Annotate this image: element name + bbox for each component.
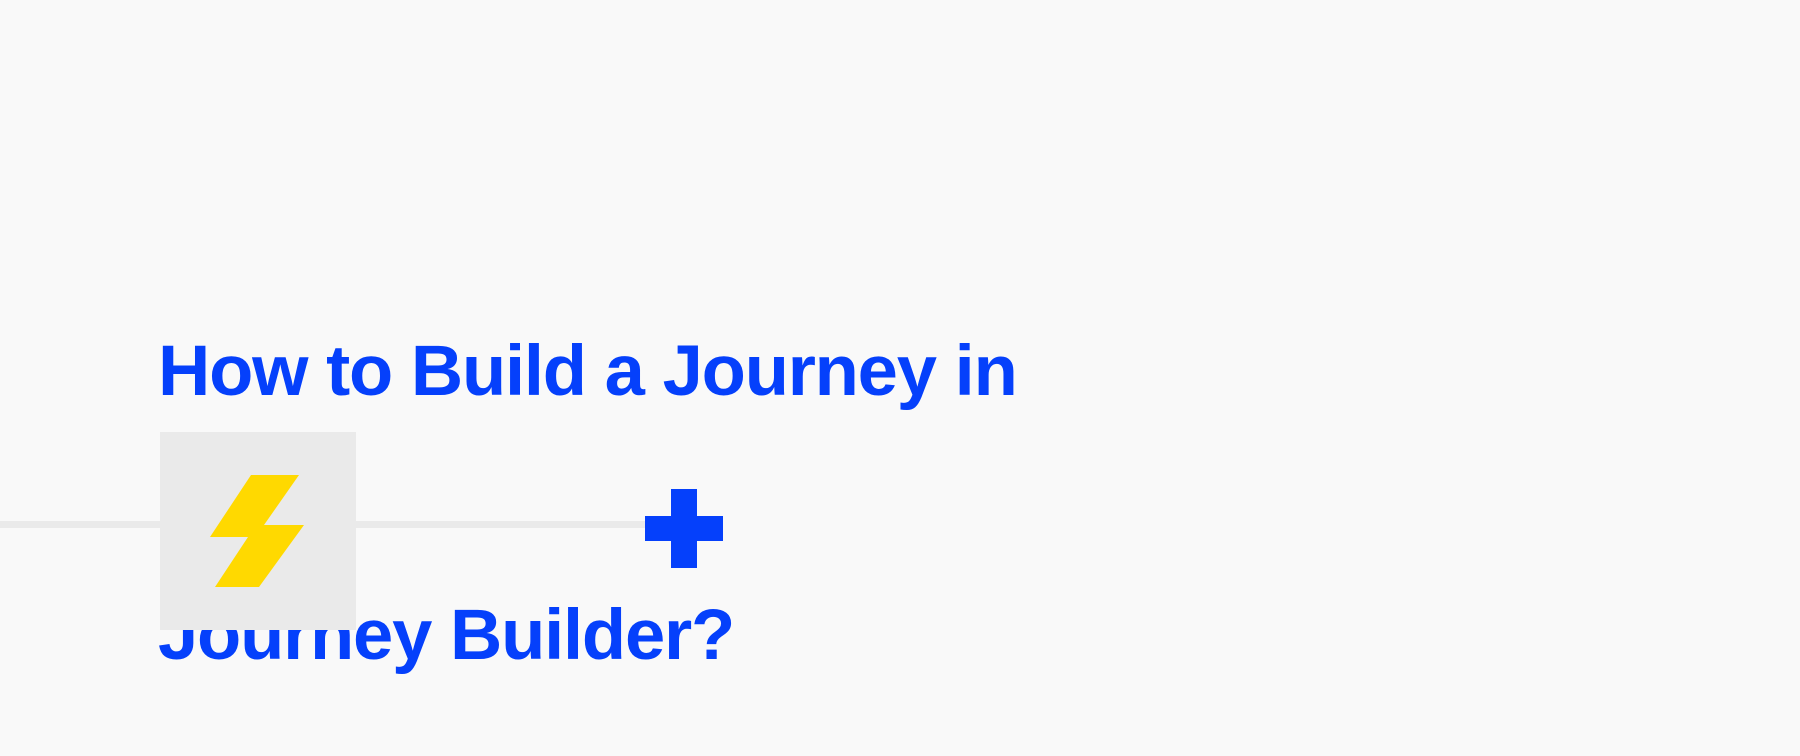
connector-line-to-add-step: [355, 521, 647, 528]
journey-flow: [0, 0, 1800, 756]
lightning-bolt-icon: [210, 475, 306, 587]
journey-entry-source-node[interactable]: [160, 432, 356, 630]
add-step-button[interactable]: [645, 489, 723, 568]
connector-line-incoming: [0, 521, 160, 528]
plus-icon: [645, 489, 723, 568]
journey-builder-canvas: How to Build a Journey in Journey Builde…: [0, 0, 1800, 756]
